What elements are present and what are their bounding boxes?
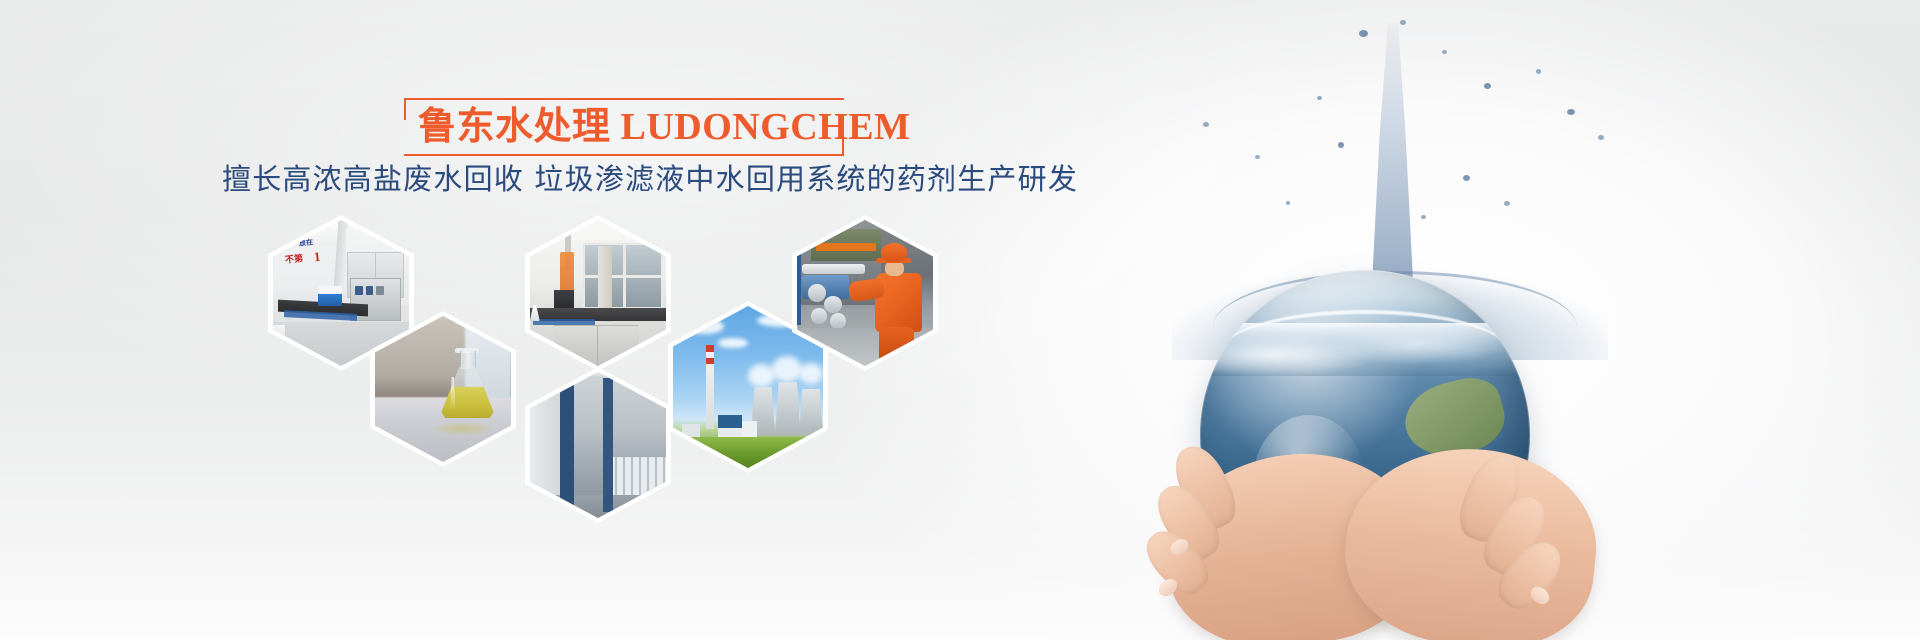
chimney-stack-icon (706, 345, 714, 429)
hexagon-photo-cluster: 放在 不第 1 (230, 215, 960, 525)
bracket-top-line (404, 98, 844, 100)
right-hand (1336, 436, 1605, 640)
cupped-hands (1136, 430, 1606, 640)
page-title: 鲁东水处理 LUDONGCHEM (418, 102, 838, 152)
title-block: 鲁东水处理 LUDONGCHEM (404, 98, 844, 156)
water-globe-artwork (1040, 0, 1920, 640)
erlenmeyer-flask-icon (440, 351, 494, 418)
lab-glassware-photo (525, 215, 671, 371)
membrane-skid-photo (525, 367, 671, 523)
cooling-tower-icon (775, 382, 801, 435)
hard-hat-icon (881, 243, 907, 261)
worker-figure (860, 243, 933, 366)
cooling-tower-icon (799, 389, 823, 436)
bracket-bottom-line (404, 154, 844, 156)
wall-slogan-mid: 不第 (284, 251, 303, 266)
bracket-left-stub (404, 98, 406, 120)
hero-banner: 鲁东水处理 LUDONGCHEM 擅长高浓高盐废水回收 垃圾渗滤液中水回用系统的… (0, 0, 1920, 640)
wall-slogan-num: 1 (314, 249, 322, 266)
page-subtitle: 擅长高浓高盐废水回收 垃圾渗滤液中水回用系统的药剂生产研发 (222, 158, 992, 200)
